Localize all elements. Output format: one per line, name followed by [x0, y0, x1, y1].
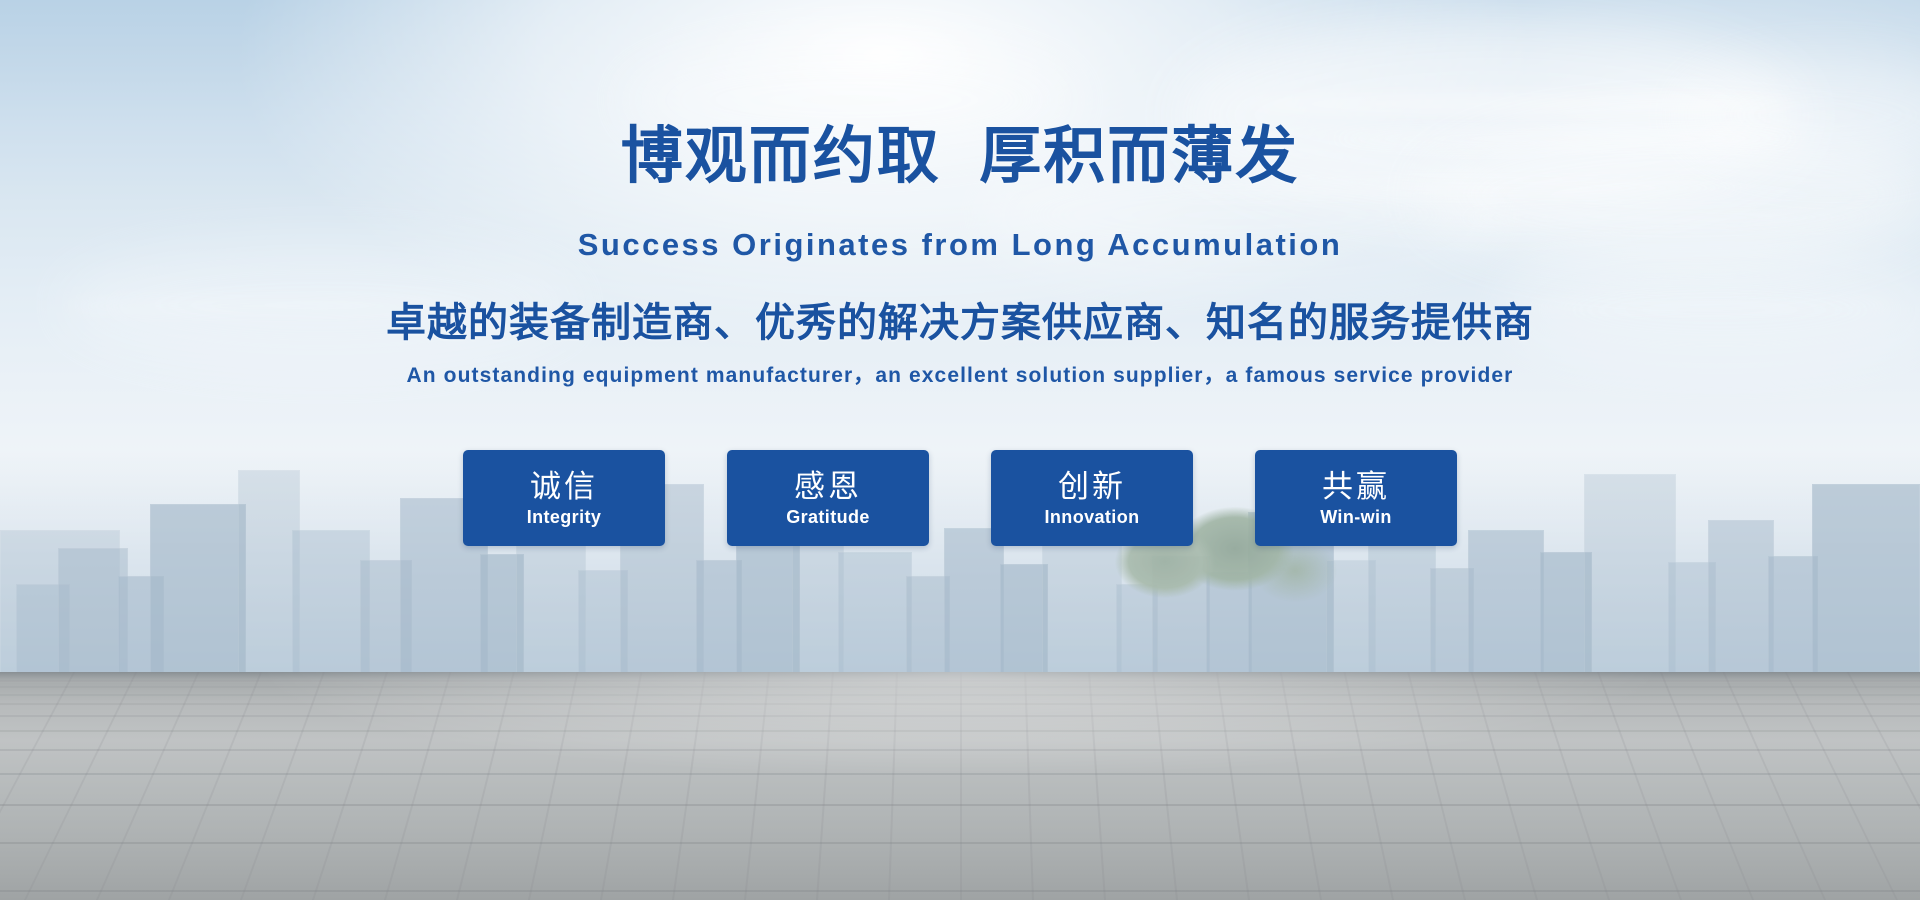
- value-box[interactable]: 诚信Integrity: [463, 450, 665, 546]
- value-box[interactable]: 共赢Win-win: [1255, 450, 1457, 546]
- hero-banner: 博观而约取 厚积而薄发 Success Originates from Long…: [0, 0, 1920, 900]
- value-label-english: Innovation: [1045, 506, 1140, 528]
- headline-english: Success Originates from Long Accumulatio…: [0, 226, 1920, 264]
- banner-content: 博观而约取 厚积而薄发 Success Originates from Long…: [0, 0, 1920, 900]
- value-box[interactable]: 感恩Gratitude: [727, 450, 929, 546]
- value-label-english: Gratitude: [786, 506, 870, 528]
- value-label-chinese: 感恩: [794, 469, 862, 505]
- value-label-chinese: 创新: [1058, 469, 1126, 505]
- subheadline-chinese: 卓越的装备制造商、优秀的解决方案供应商、知名的服务提供商: [0, 298, 1920, 348]
- value-label-chinese: 诚信: [530, 469, 598, 505]
- value-label-english: Integrity: [527, 506, 602, 528]
- subheadline-english: An outstanding equipment manufacturer，an…: [0, 362, 1920, 390]
- core-values-list: 诚信Integrity感恩Gratitude创新Innovation共赢Win-…: [0, 450, 1920, 546]
- value-box[interactable]: 创新Innovation: [991, 450, 1193, 546]
- value-label-english: Win-win: [1320, 506, 1392, 528]
- headline-chinese: 博观而约取 厚积而薄发: [0, 120, 1920, 194]
- value-label-chinese: 共赢: [1322, 469, 1390, 505]
